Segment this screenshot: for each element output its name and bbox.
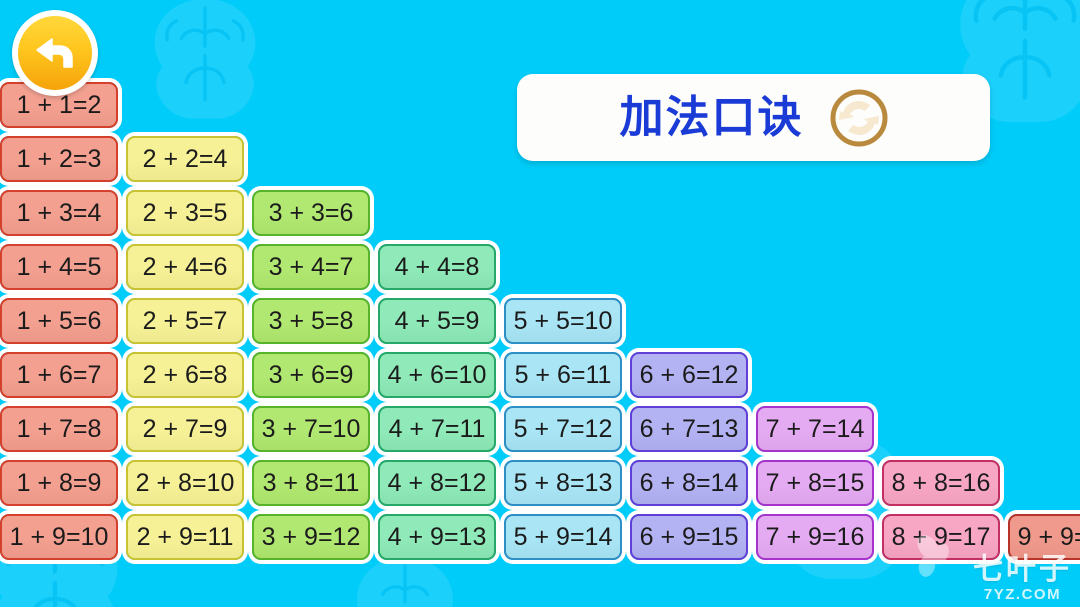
formula-tile-label: 5 + 9=14 — [514, 525, 613, 550]
formula-tile-label: 1 + 2=3 — [17, 147, 102, 172]
page-title: 加法口诀 — [620, 96, 804, 140]
formula-tile-label: 2 + 5=7 — [143, 309, 228, 334]
formula-tile-label: 5 + 6=11 — [515, 363, 612, 388]
formula-tile[interactable]: 4 + 6=10 — [378, 352, 496, 398]
formula-tile-label: 2 + 9=11 — [137, 525, 234, 550]
formula-tile[interactable]: 3 + 6=9 — [252, 352, 370, 398]
formula-tile-label: 3 + 3=6 — [269, 201, 354, 226]
formula-tile-label: 1 + 5=6 — [17, 309, 102, 334]
formula-tile[interactable]: 8 + 8=16 — [882, 460, 1000, 506]
formula-tile[interactable]: 9 + 9=18 — [1008, 514, 1080, 560]
formula-tile-label: 4 + 5=9 — [395, 309, 480, 334]
formula-tile-label: 4 + 9=13 — [388, 525, 487, 550]
formula-tile[interactable]: 1 + 6=7 — [0, 352, 118, 398]
formula-tile[interactable]: 1 + 3=4 — [0, 190, 118, 236]
formula-tile[interactable]: 5 + 5=10 — [504, 298, 622, 344]
title-bar: 加法口诀 — [517, 74, 990, 161]
formula-tile-label: 3 + 4=7 — [269, 255, 354, 280]
formula-tile-label: 7 + 9=16 — [766, 525, 865, 550]
back-button-inner — [18, 16, 92, 90]
formula-tile[interactable]: 5 + 9=14 — [504, 514, 622, 560]
formula-tile[interactable]: 3 + 7=10 — [252, 406, 370, 452]
formula-tile[interactable]: 4 + 7=11 — [378, 406, 496, 452]
formula-tile[interactable]: 2 + 3=5 — [126, 190, 244, 236]
formula-tile[interactable]: 2 + 6=8 — [126, 352, 244, 398]
formula-tile-label: 6 + 9=15 — [640, 525, 739, 550]
formula-tile-label: 2 + 2=4 — [143, 147, 228, 172]
formula-tile-label: 3 + 7=10 — [262, 417, 361, 442]
formula-tile-label: 4 + 7=11 — [389, 417, 486, 442]
formula-tile[interactable]: 5 + 8=13 — [504, 460, 622, 506]
formula-tile[interactable]: 5 + 7=12 — [504, 406, 622, 452]
refresh-icon[interactable] — [830, 89, 888, 147]
formula-tile[interactable]: 7 + 9=16 — [756, 514, 874, 560]
formula-row: 1 + 7=82 + 7=93 + 7=104 + 7=115 + 7=126 … — [0, 406, 1080, 452]
formula-tile[interactable]: 1 + 8=9 — [0, 460, 118, 506]
formula-tile-label: 2 + 7=9 — [143, 417, 228, 442]
formula-tile[interactable]: 5 + 6=11 — [504, 352, 622, 398]
formula-tile[interactable]: 4 + 4=8 — [378, 244, 496, 290]
formula-row: 1 + 4=52 + 4=63 + 4=74 + 4=8 — [0, 244, 1080, 290]
formula-tile-label: 7 + 7=14 — [766, 417, 865, 442]
formula-tile[interactable]: 6 + 7=13 — [630, 406, 748, 452]
formula-tile-label: 1 + 8=9 — [17, 471, 102, 496]
formula-tile[interactable]: 6 + 6=12 — [630, 352, 748, 398]
formula-tile-label: 2 + 3=5 — [143, 201, 228, 226]
back-arrow-icon — [33, 33, 77, 73]
formula-tile-label: 4 + 4=8 — [395, 255, 480, 280]
formula-tile[interactable]: 6 + 8=14 — [630, 460, 748, 506]
formula-tile[interactable]: 1 + 4=5 — [0, 244, 118, 290]
formula-tile-label: 8 + 8=16 — [892, 471, 991, 496]
formula-tile[interactable]: 1 + 9=10 — [0, 514, 118, 560]
formula-tile-label: 1 + 4=5 — [17, 255, 102, 280]
formula-tile-label: 6 + 6=12 — [640, 363, 739, 388]
formula-tile-label: 1 + 3=4 — [17, 201, 102, 226]
formula-tile-label: 2 + 6=8 — [143, 363, 228, 388]
formula-tile[interactable]: 4 + 9=13 — [378, 514, 496, 560]
formula-tile[interactable]: 2 + 2=4 — [126, 136, 244, 182]
formula-tile-label: 5 + 8=13 — [514, 471, 613, 496]
formula-tile[interactable]: 7 + 7=14 — [756, 406, 874, 452]
formula-tile-label: 7 + 8=15 — [766, 471, 865, 496]
formula-tile[interactable]: 3 + 5=8 — [252, 298, 370, 344]
formula-tile-label: 3 + 8=11 — [263, 471, 360, 496]
formula-tile-label: 3 + 9=12 — [262, 525, 361, 550]
formula-tile-label: 1 + 1=2 — [17, 93, 102, 118]
formula-tile[interactable]: 3 + 8=11 — [252, 460, 370, 506]
formula-tile-label: 4 + 6=10 — [388, 363, 487, 388]
formula-tile-label: 5 + 7=12 — [514, 417, 613, 442]
formula-row: 1 + 8=92 + 8=103 + 8=114 + 8=125 + 8=136… — [0, 460, 1080, 506]
formula-tile[interactable]: 1 + 2=3 — [0, 136, 118, 182]
formula-tile[interactable]: 7 + 8=15 — [756, 460, 874, 506]
formula-tile[interactable]: 2 + 7=9 — [126, 406, 244, 452]
formula-tile-label: 6 + 7=13 — [640, 417, 739, 442]
formula-tile[interactable]: 1 + 7=8 — [0, 406, 118, 452]
formula-row: 1 + 5=62 + 5=73 + 5=84 + 5=95 + 5=10 — [0, 298, 1080, 344]
formula-tile-label: 2 + 8=10 — [136, 471, 235, 496]
formula-tile-label: 1 + 7=8 — [17, 417, 102, 442]
formula-row: 1 + 6=72 + 6=83 + 6=94 + 6=105 + 6=116 +… — [0, 352, 1080, 398]
leaf-icon — [908, 530, 962, 589]
formula-tile[interactable]: 4 + 5=9 — [378, 298, 496, 344]
formula-tile-label: 3 + 5=8 — [269, 309, 354, 334]
formula-tile[interactable]: 2 + 8=10 — [126, 460, 244, 506]
formula-tile[interactable]: 3 + 4=7 — [252, 244, 370, 290]
formula-tile-label: 3 + 6=9 — [269, 363, 354, 388]
formula-tile[interactable]: 2 + 9=11 — [126, 514, 244, 560]
formula-tile-label: 5 + 5=10 — [514, 309, 613, 334]
back-button[interactable] — [12, 10, 98, 96]
formula-tile-label: 6 + 8=14 — [640, 471, 739, 496]
formula-tile-label: 2 + 4=6 — [143, 255, 228, 280]
formula-tile-label: 4 + 8=12 — [388, 471, 487, 496]
formula-tile[interactable]: 2 + 4=6 — [126, 244, 244, 290]
formula-tile[interactable]: 2 + 5=7 — [126, 298, 244, 344]
formula-tile-label: 1 + 9=10 — [10, 525, 109, 550]
formula-tile[interactable]: 4 + 8=12 — [378, 460, 496, 506]
formula-tile-label: 9 + 9=18 — [1018, 525, 1080, 550]
formula-tile-label: 1 + 6=7 — [17, 363, 102, 388]
formula-tile[interactable]: 6 + 9=15 — [630, 514, 748, 560]
formula-tile[interactable]: 3 + 9=12 — [252, 514, 370, 560]
formula-tile[interactable]: 1 + 5=6 — [0, 298, 118, 344]
formula-tile[interactable]: 3 + 3=6 — [252, 190, 370, 236]
formula-row: 1 + 3=42 + 3=53 + 3=6 — [0, 190, 1080, 236]
